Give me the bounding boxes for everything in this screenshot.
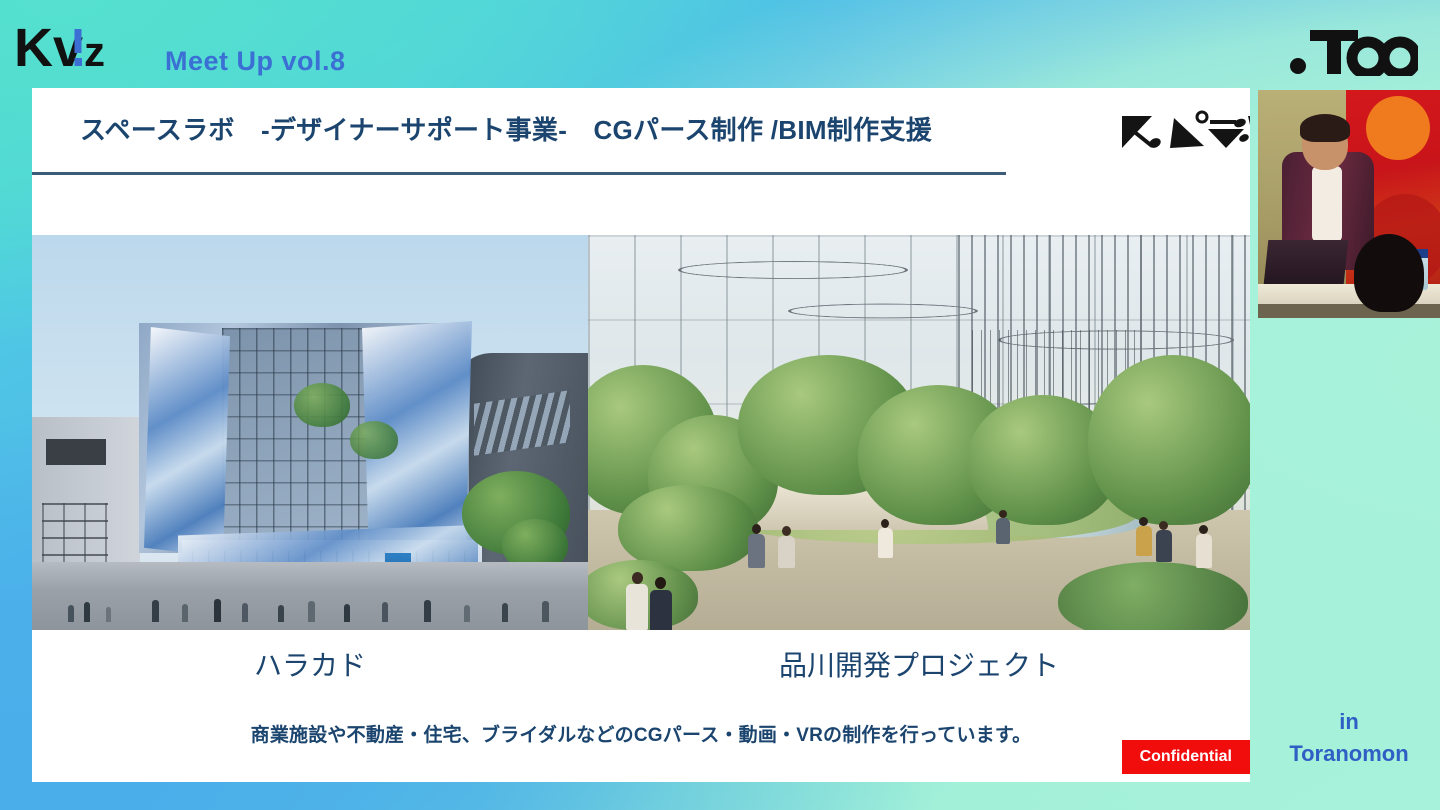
slide-title: スペースラボ -デザイナーサポート事業- CGパース制作 /BIM制作支援 — [80, 110, 932, 147]
cg-rendering-gallery — [32, 235, 1250, 630]
decor-glyph-cluster — [1118, 110, 1250, 152]
venue-line-1: in — [1258, 706, 1440, 738]
shinagawa-project-cg-rendering — [588, 235, 1250, 630]
slide-footnote: 商業施設や不動産・住宅、ブライダルなどのCGパース・動画・VRの制作を行っていま… — [32, 720, 1250, 747]
presentation-slide: スペースラボ -デザイナーサポート事業- CGパース制作 /BIM制作支援 — [32, 88, 1250, 782]
glyph-mark-1 — [1122, 116, 1162, 150]
harakado-cg-rendering — [32, 235, 588, 630]
presenter-webcam-feed[interactable] — [1258, 90, 1440, 318]
venue-label: in Toranomon — [1258, 706, 1440, 770]
kviz-logo: Kv z — [14, 20, 154, 76]
image-caption-right: 品川開発プロジェクト — [588, 644, 1250, 684]
svg-text:z: z — [84, 28, 105, 75]
glyph-mark-2 — [1170, 112, 1207, 148]
confidential-badge: Confidential — [1122, 740, 1250, 774]
too-logo — [1288, 24, 1418, 76]
glyph-mark-3 — [1208, 117, 1247, 148]
venue-line-2: Toranomon — [1258, 738, 1440, 770]
image-caption-left: ハラカド — [32, 644, 588, 684]
title-divider — [32, 172, 1006, 175]
event-title: Meet Up vol.8 — [165, 48, 346, 75]
svg-text:Kv: Kv — [14, 20, 83, 76]
page-header: Kv z Meet Up vol.8 — [0, 0, 1440, 88]
